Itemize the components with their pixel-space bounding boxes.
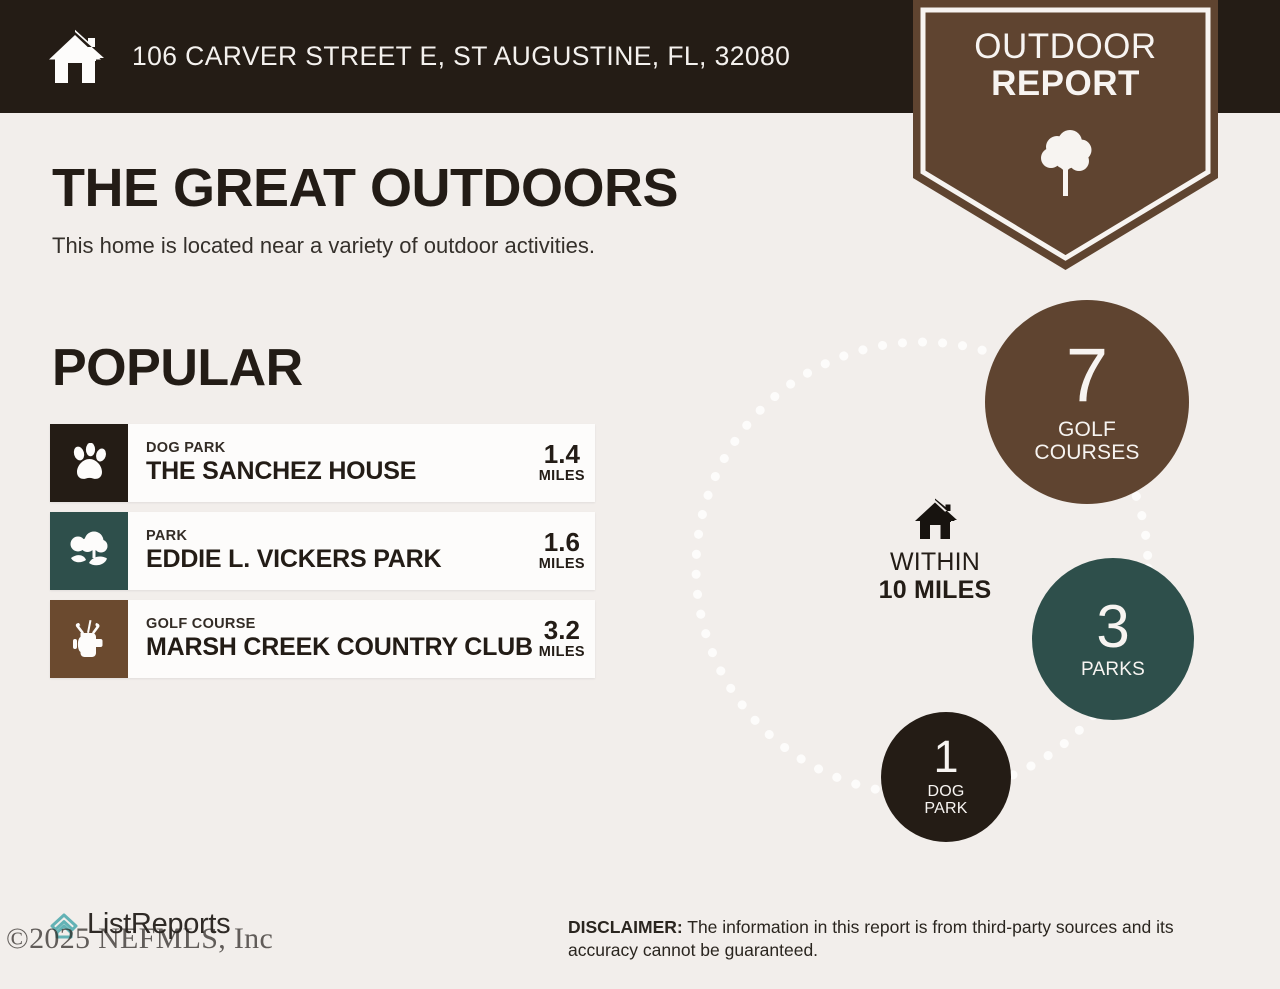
- center-radius-label: 10 MILES: [840, 576, 1030, 606]
- poi-category: GOLF COURSE: [146, 616, 531, 633]
- bubble-label: GOLF COURSES: [1034, 418, 1139, 464]
- bubble-count: 1: [933, 736, 958, 779]
- bubble-label: PARKS: [1081, 660, 1145, 681]
- diagram-center-info: WITHIN 10 MILES: [840, 498, 1030, 606]
- bubble-label-line2: PARK: [924, 800, 967, 818]
- list-item[interactable]: PARK EDDIE L. VICKERS PARK 1.6 MILES: [50, 512, 595, 590]
- poi-distance-unit: MILES: [539, 468, 585, 485]
- amenities-diagram: 7 GOLF COURSES 3 PARKS 1 DOG PARK WITHIN…: [660, 280, 1240, 860]
- poi-distance-value: 1.6: [539, 529, 585, 556]
- disclaimer: DISCLAIMER: The information in this repo…: [568, 916, 1228, 962]
- badge-title-line2: REPORT: [913, 65, 1218, 102]
- badge-title: OUTDOOR REPORT: [913, 28, 1218, 103]
- bubble-parks[interactable]: 3 PARKS: [1032, 558, 1194, 720]
- poi-distance-value: 3.2: [539, 617, 585, 644]
- poi-texts: DOG PARK THE SANCHEZ HOUSE: [146, 440, 416, 486]
- poi-distance-unit: MILES: [539, 644, 585, 661]
- poi-texts: GOLF COURSE MARSH CREEK COUNTRY CLUB: [146, 616, 531, 662]
- outdoor-report-badge: OUTDOOR REPORT: [913, 0, 1218, 270]
- tree-icon: [1037, 128, 1095, 198]
- property-address: 106 CARVER STREET E, ST AUGUSTINE, FL, 3…: [132, 41, 790, 72]
- home-icon: [44, 29, 106, 85]
- page-title: THE GREAT OUTDOORS: [52, 160, 892, 217]
- home-icon: [911, 498, 959, 540]
- poi-category: DOG PARK: [146, 440, 416, 457]
- list-item[interactable]: GOLF COURSE MARSH CREEK COUNTRY CLUB 3.2…: [50, 600, 595, 678]
- disclaimer-label: DISCLAIMER:: [568, 917, 683, 937]
- list-item[interactable]: DOG PARK THE SANCHEZ HOUSE 1.4 MILES: [50, 424, 595, 502]
- paw-icon: [68, 443, 110, 483]
- bubble-count: 3: [1096, 598, 1129, 655]
- poi-distance: 3.2 MILES: [531, 617, 585, 661]
- page-subtitle: This home is located near a variety of o…: [52, 233, 892, 259]
- golf-bag-icon: [69, 617, 109, 661]
- poi-distance-value: 1.4: [539, 441, 585, 468]
- mls-copyright-watermark: ©2025 NEFMLS, Inc: [6, 922, 273, 956]
- popular-list: DOG PARK THE SANCHEZ HOUSE 1.4 MILES: [50, 424, 595, 688]
- poi-body: DOG PARK THE SANCHEZ HOUSE 1.4 MILES: [128, 424, 595, 502]
- poi-icon-tile: [50, 424, 128, 502]
- bubble-golf-courses[interactable]: 7 GOLF COURSES: [985, 300, 1189, 504]
- popular-heading: POPULAR: [52, 338, 303, 398]
- center-within-label: WITHIN: [840, 549, 1030, 576]
- bubble-label-line1: PARKS: [1081, 660, 1145, 681]
- trees-icon: [67, 530, 111, 572]
- bubble-label: DOG PARK: [924, 783, 967, 818]
- poi-distance: 1.4 MILES: [531, 441, 585, 485]
- bubble-label-line2: COURSES: [1034, 441, 1139, 464]
- bubble-dog-park[interactable]: 1 DOG PARK: [881, 712, 1011, 842]
- bubble-label-line1: DOG: [924, 783, 967, 801]
- poi-name: THE SANCHEZ HOUSE: [146, 457, 416, 487]
- bubble-label-line1: GOLF: [1034, 418, 1139, 441]
- badge-title-line1: OUTDOOR: [913, 28, 1218, 65]
- bubble-count: 7: [1066, 340, 1108, 412]
- poi-distance: 1.6 MILES: [531, 529, 585, 573]
- poi-distance-unit: MILES: [539, 556, 585, 573]
- poi-body: PARK EDDIE L. VICKERS PARK 1.6 MILES: [128, 512, 595, 590]
- poi-texts: PARK EDDIE L. VICKERS PARK: [146, 528, 441, 574]
- poi-body: GOLF COURSE MARSH CREEK COUNTRY CLUB 3.2…: [128, 600, 595, 678]
- poi-icon-tile: [50, 512, 128, 590]
- title-block: THE GREAT OUTDOORS This home is located …: [52, 160, 892, 259]
- poi-name: MARSH CREEK COUNTRY CLUB: [146, 633, 531, 663]
- poi-name: EDDIE L. VICKERS PARK: [146, 545, 441, 575]
- poi-category: PARK: [146, 528, 441, 545]
- poi-icon-tile: [50, 600, 128, 678]
